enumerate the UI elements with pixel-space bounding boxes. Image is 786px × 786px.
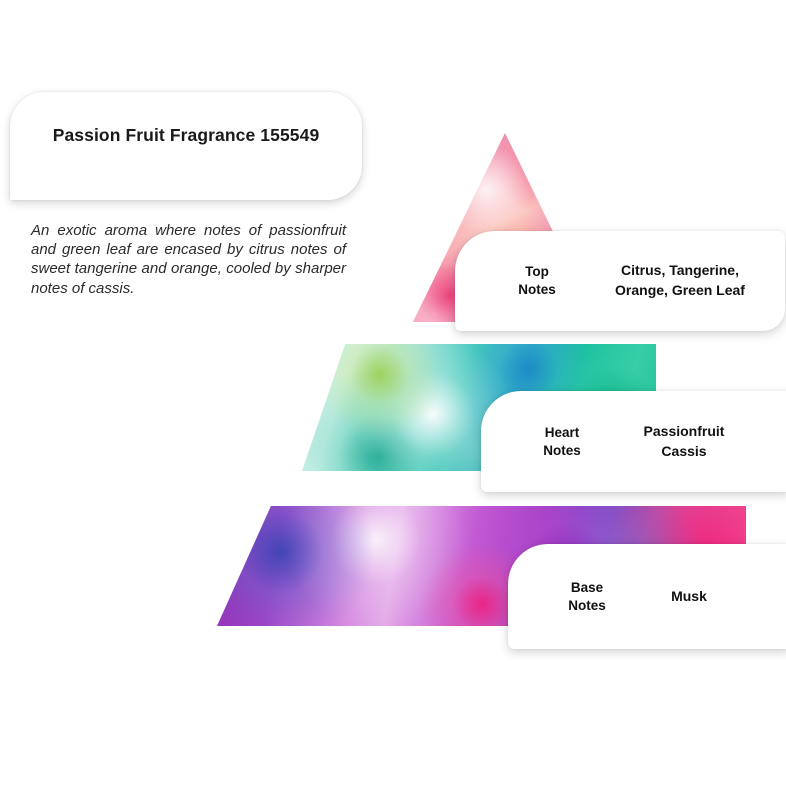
fragrance-description: An exotic aroma where notes of passionfr…: [31, 221, 346, 298]
note-value-base: Musk: [630, 587, 786, 607]
note-card-top: Top Notes Citrus, Tangerine, Orange, Gre…: [455, 231, 785, 331]
note-label-base: Base Notes: [544, 579, 630, 615]
fragrance-pyramid-page: Passion Fruit Fragrance 155549 An exotic…: [0, 0, 786, 786]
note-label-heart: Heart Notes: [519, 424, 605, 460]
note-value-top: Citrus, Tangerine, Orange, Green Leaf: [579, 261, 781, 301]
note-label-top: Top Notes: [495, 263, 579, 299]
note-card-base: Base Notes Musk: [508, 544, 786, 649]
note-card-heart: Heart Notes Passionfruit Cassis: [481, 391, 786, 492]
note-value-heart: Passionfruit Cassis: [605, 422, 786, 462]
title-card: Passion Fruit Fragrance 155549: [10, 92, 362, 200]
page-title: Passion Fruit Fragrance 155549: [53, 125, 320, 146]
